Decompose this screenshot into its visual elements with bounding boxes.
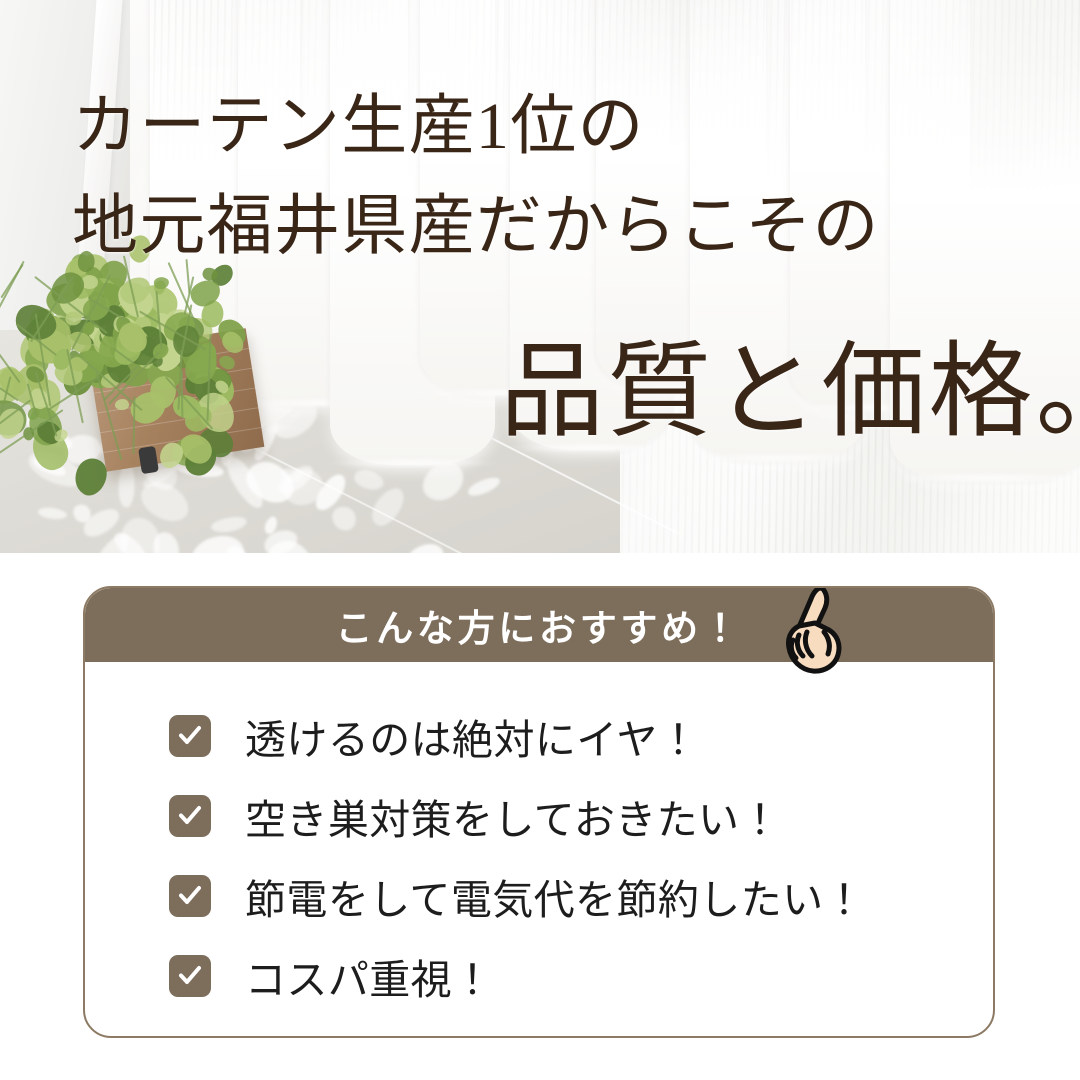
check-item-label: 空き巣対策をしておきたい！ — [245, 786, 781, 846]
recommend-card-header: こんな方におすすめ！ — [85, 588, 993, 662]
curtain-hem — [890, 0, 1080, 480]
check-item[interactable]: 空き巣対策をしておきたい！ — [169, 776, 993, 856]
recommend-card-title: こんな方におすすめ！ — [336, 598, 743, 652]
ivy-stem — [180, 370, 183, 418]
check-item-label: 透けるのは絶対にイヤ！ — [245, 706, 699, 766]
recommend-card: こんな方におすすめ！ 透けるのは絶対にイヤ！空き巣対策をしておきたい！節電をして… — [83, 586, 995, 1038]
check-icon — [177, 963, 203, 989]
check-item[interactable]: 透けるのは絶対にイヤ！ — [169, 696, 993, 776]
curtain-hem-glow — [504, 444, 676, 452]
checkbox-checked[interactable] — [169, 955, 211, 997]
pointing-hand-icon — [779, 586, 853, 676]
ivy-leaf — [114, 398, 129, 411]
hero-photo: カーテン生産1位の 地元福井県産だからこその 品質と価格。 — [0, 0, 1080, 553]
curtain-hem-glow — [884, 474, 1080, 482]
check-item[interactable]: コスパ重視！ — [169, 936, 993, 1016]
recommend-check-list: 透けるのは絶対にイヤ！空き巣対策をしておきたい！節電をして電気代を節約したい！コ… — [85, 662, 993, 1016]
curtain-hem-glow — [324, 459, 501, 467]
checkbox-checked[interactable] — [169, 795, 211, 837]
check-icon — [177, 803, 203, 829]
check-item-label: コスパ重視！ — [245, 946, 493, 1006]
ivy-stem — [0, 263, 24, 298]
checkbox-checked[interactable] — [169, 875, 211, 917]
ivy-plant — [0, 222, 300, 462]
curtain-hem-glow — [684, 454, 871, 462]
promo-page: カーテン生産1位の 地元福井県産だからこその 品質と価格。 こんな方におすすめ！… — [0, 0, 1080, 1080]
checkbox-checked[interactable] — [169, 715, 211, 757]
check-icon — [177, 883, 203, 909]
check-item-label: 節電をして電気代を節約したい！ — [245, 866, 865, 926]
check-item[interactable]: 節電をして電気代を節約したい！ — [169, 856, 993, 936]
check-icon — [177, 723, 203, 749]
ivy-leaf — [125, 232, 154, 264]
